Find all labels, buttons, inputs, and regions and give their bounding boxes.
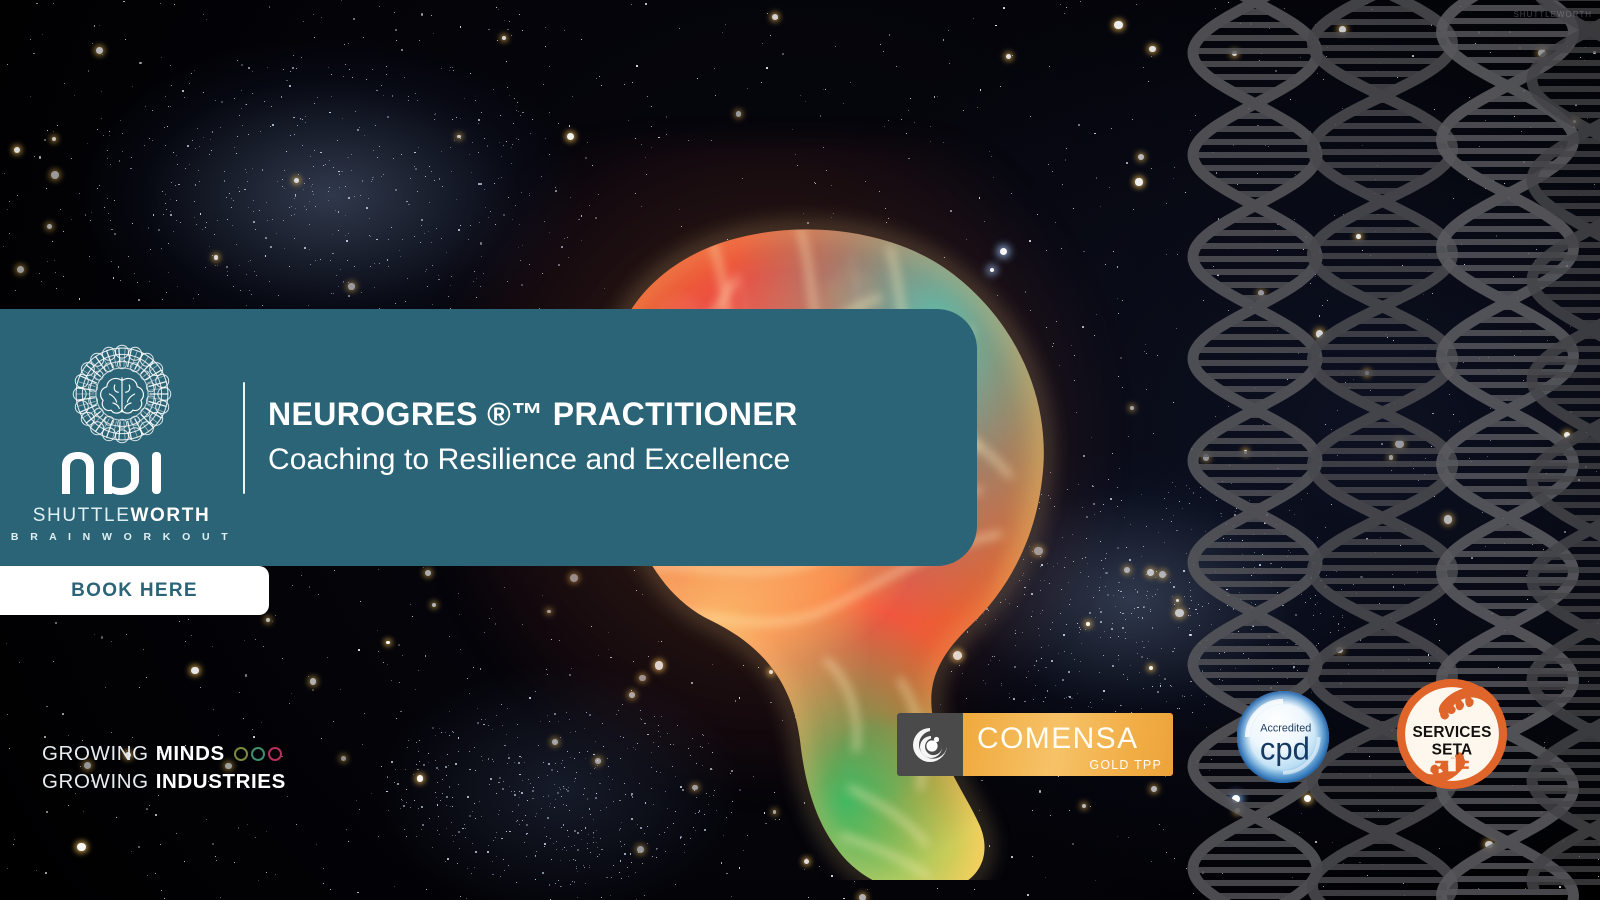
logo-name-light: SHUTTLE (33, 505, 131, 526)
tagline-line-1: GROWING MINDS (42, 740, 286, 768)
book-here-label: BOOK HERE (71, 580, 198, 602)
cpd-sphere-icon: Accredited cpd (1236, 690, 1330, 784)
comensa-tier: GOLD TPP (1089, 758, 1162, 772)
panel-titles: NEUROGRES ®™ PRACTITIONER Coaching to Re… (245, 397, 798, 478)
tagline-minds: MINDS (156, 740, 225, 768)
page-subtitle: Coaching to Resilience and Excellence (268, 443, 798, 478)
book-here-button[interactable]: BOOK HERE (0, 566, 269, 615)
seta-line-2: SETA (1432, 742, 1473, 759)
page-title: NEUROGRES ®™ PRACTITIONER (268, 397, 798, 432)
comensa-name: COMENSA (977, 722, 1139, 756)
logo-name-bold: WORTH (131, 505, 211, 526)
banner-stage: SHUTTLEWORTH (0, 0, 1600, 900)
services-seta-hands-icon: SERVICES SETA (1396, 678, 1508, 790)
tagline-line-2: GROWING INDUSTRIES (42, 768, 286, 796)
comensa-spiral-icon (897, 713, 963, 776)
cpd-label: cpd (1260, 732, 1310, 767)
comensa-badge[interactable]: COMENSA GOLD TPP (897, 713, 1173, 776)
hero-panel: SHUTTLEWORTH B R A I N W O R K O U T NEU… (0, 309, 977, 566)
background-watermark: SHUTTLEWORTH (1513, 10, 1592, 19)
logo-sub-tagline: B R A I N W O R K O U T (11, 531, 232, 543)
brain-dna-wreath-icon (68, 340, 176, 448)
tagline-growing-2: GROWING (42, 768, 149, 796)
logo-name: SHUTTLEWORTH (33, 505, 211, 527)
seta-line-1: SERVICES (1412, 724, 1491, 741)
npi-wordmark (60, 450, 184, 496)
growing-tagline: GROWING MINDS GROWING INDUSTRIES (42, 740, 286, 796)
services-seta-badge[interactable]: SERVICES SETA (1396, 678, 1508, 790)
npi-logo: SHUTTLEWORTH B R A I N W O R K O U T (0, 332, 243, 543)
tagline-industries: INDUSTRIES (156, 768, 286, 796)
tagline-dots-icon (234, 747, 282, 761)
tagline-growing-1: GROWING (42, 740, 149, 768)
dna-double-helix-icon (1170, 0, 1600, 900)
cpd-badge[interactable]: Accredited cpd (1236, 690, 1330, 784)
comensa-name-panel: COMENSA GOLD TPP (963, 713, 1173, 776)
